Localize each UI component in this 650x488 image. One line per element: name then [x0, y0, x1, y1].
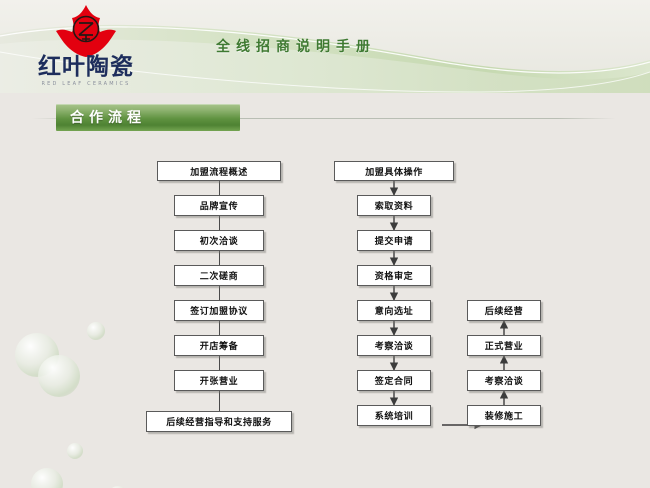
- flow-node: 签定合同: [357, 370, 431, 391]
- flow-node: 品牌宣传: [174, 195, 264, 216]
- flow-node: 正式营业: [467, 335, 541, 356]
- flow-arrows: [0, 150, 650, 450]
- flow-node: 考察洽谈: [467, 370, 541, 391]
- flow-node: 开店筹备: [174, 335, 264, 356]
- flow-node: 装修施工: [467, 405, 541, 426]
- page-title: 全线招商说明手册: [216, 36, 376, 56]
- flow-node: 意向选址: [357, 300, 431, 321]
- flow-node: 二次磋商: [174, 265, 264, 286]
- flow-node: 后续经营: [467, 300, 541, 321]
- flow-node: 索取资料: [357, 195, 431, 216]
- maple-leaf-emblem-icon: [52, 4, 120, 60]
- flow-node: 加盟流程概述: [157, 161, 281, 181]
- flow-node: 签订加盟协议: [174, 300, 264, 321]
- cooperation-flowchart: 加盟流程概述 品牌宣传 初次洽谈 二次磋商 签订加盟协议 开店筹备 开张营业 后…: [0, 150, 650, 450]
- flow-node: 考察洽谈: [357, 335, 431, 356]
- brand-name-cn: 红叶陶瓷: [24, 54, 148, 80]
- flow-node: 后续经营指导和支持服务: [146, 411, 292, 432]
- section-banner: 合作流程: [56, 104, 240, 131]
- flow-node: 开张营业: [174, 370, 264, 391]
- section-title: 合作流程: [56, 104, 240, 131]
- flow-node: 初次洽谈: [174, 230, 264, 251]
- flow-node: 系统培训: [357, 405, 431, 426]
- brand-name-en: RED LEAF CERAMICS: [24, 81, 148, 87]
- flow-node: 提交申请: [357, 230, 431, 251]
- flow-node: 资格审定: [357, 265, 431, 286]
- flow-node: 加盟具体操作: [334, 161, 454, 181]
- brand-logo: 红叶陶瓷 RED LEAF CERAMICS: [22, 4, 150, 96]
